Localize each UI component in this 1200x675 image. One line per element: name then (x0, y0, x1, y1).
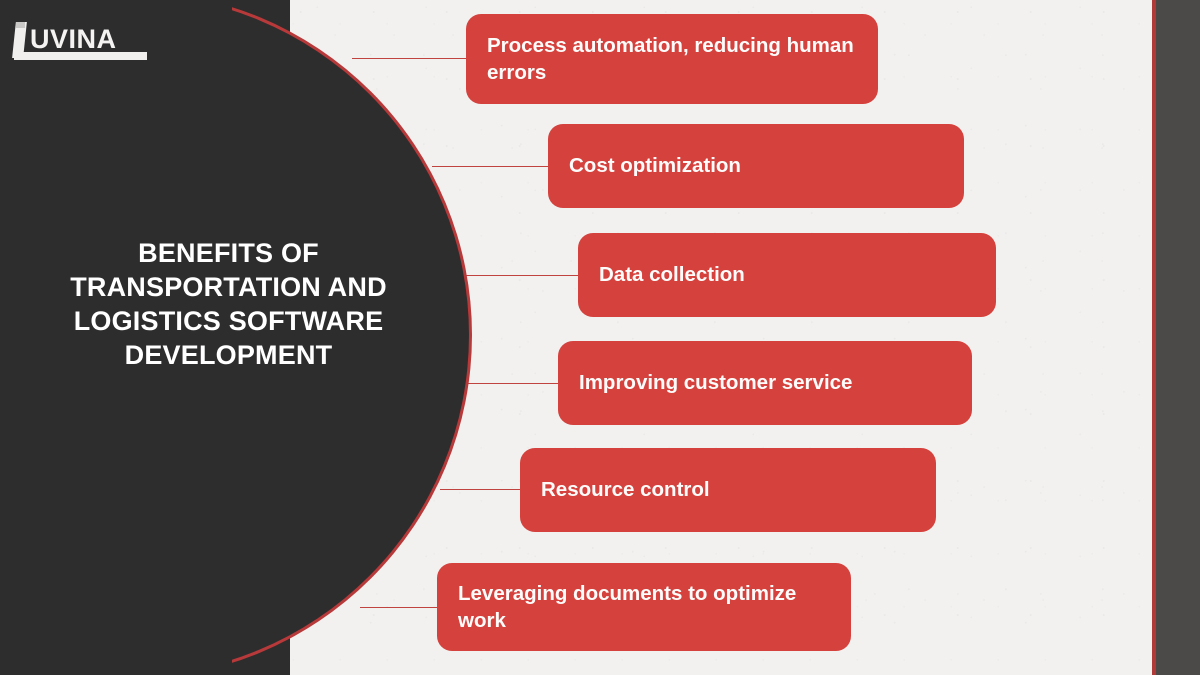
luvina-logo[interactable]: UVINA (14, 22, 150, 66)
connector-line-5 (440, 489, 528, 490)
benefit-pill-2[interactable]: Cost optimization (548, 124, 964, 208)
logo-wordmark: UVINA (30, 23, 117, 55)
benefit-pill-1[interactable]: Process automation, reducing human error… (466, 14, 878, 104)
connector-line-3 (460, 275, 585, 276)
benefit-pill-2-label: Cost optimization (569, 152, 741, 179)
benefit-pill-6[interactable]: Leveraging documents to optimize work (437, 563, 851, 651)
infographic-canvas: UVINA BENEFITS OF TRANSPORTATION AND LOG… (0, 0, 1200, 675)
benefit-pill-3[interactable]: Data collection (578, 233, 996, 317)
benefit-pill-5-label: Resource control (541, 476, 710, 503)
benefit-pill-3-label: Data collection (599, 261, 745, 288)
right-dark-panel (1156, 0, 1200, 675)
page-title: BENEFITS OF TRANSPORTATION AND LOGISTICS… (56, 236, 401, 372)
benefit-pill-4[interactable]: Improving customer service (558, 341, 972, 425)
benefit-pill-6-label: Leveraging documents to optimize work (458, 580, 831, 635)
benefit-pill-5[interactable]: Resource control (520, 448, 936, 532)
benefit-pill-4-label: Improving customer service (579, 369, 852, 396)
connector-line-4 (462, 383, 566, 384)
connector-line-2 (432, 166, 558, 167)
benefit-pill-1-label: Process automation, reducing human error… (487, 32, 858, 87)
logo-l-fold-icon (16, 22, 25, 28)
connector-line-1 (352, 58, 476, 59)
